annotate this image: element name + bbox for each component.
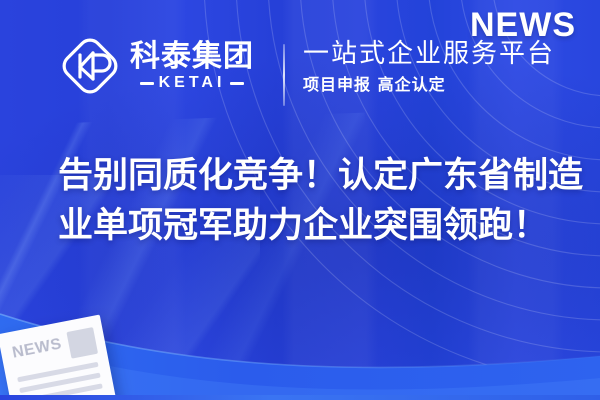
brand-logo-text: 科泰集团 KETAI xyxy=(130,41,254,91)
slogan-secondary: 项目申报 高企认定 xyxy=(303,75,555,96)
bottom-accent-strip xyxy=(0,395,600,400)
newspaper-title: NEWS xyxy=(11,336,63,361)
news-badge: NEWS xyxy=(470,6,576,45)
header-slogan: 一站式企业服务平台 项目申报 高企认定 xyxy=(303,38,555,95)
dash-right-icon xyxy=(230,82,244,85)
ketai-diamond-monogram-icon xyxy=(60,36,120,96)
brand-name-en: KETAI xyxy=(159,75,226,91)
page-title-line-2: 业单项冠军助力企业突围领跑！ xyxy=(58,202,578,252)
header-divider xyxy=(283,44,285,106)
brand-logo[interactable]: 科泰集团 KETAI xyxy=(60,36,254,96)
newspaper-thumbnail xyxy=(66,327,98,359)
dash-left-icon xyxy=(140,82,154,85)
page-title-line-1: 告别同质化竞争！认定广东省制造 xyxy=(58,152,578,202)
brand-name-cn: 科泰集团 xyxy=(130,41,254,73)
banner-header: 科泰集团 KETAI 一站式企业服务平台 项目申报 高企认定 NEWS xyxy=(0,26,600,118)
page-title: 告别同质化竞争！认定广东省制造 业单项冠军助力企业突围领跑！ xyxy=(58,152,578,251)
brand-name-en-row: KETAI xyxy=(130,75,254,91)
news-banner: 科泰集团 KETAI 一站式企业服务平台 项目申报 高企认定 NEWS 告别同质… xyxy=(0,0,600,400)
